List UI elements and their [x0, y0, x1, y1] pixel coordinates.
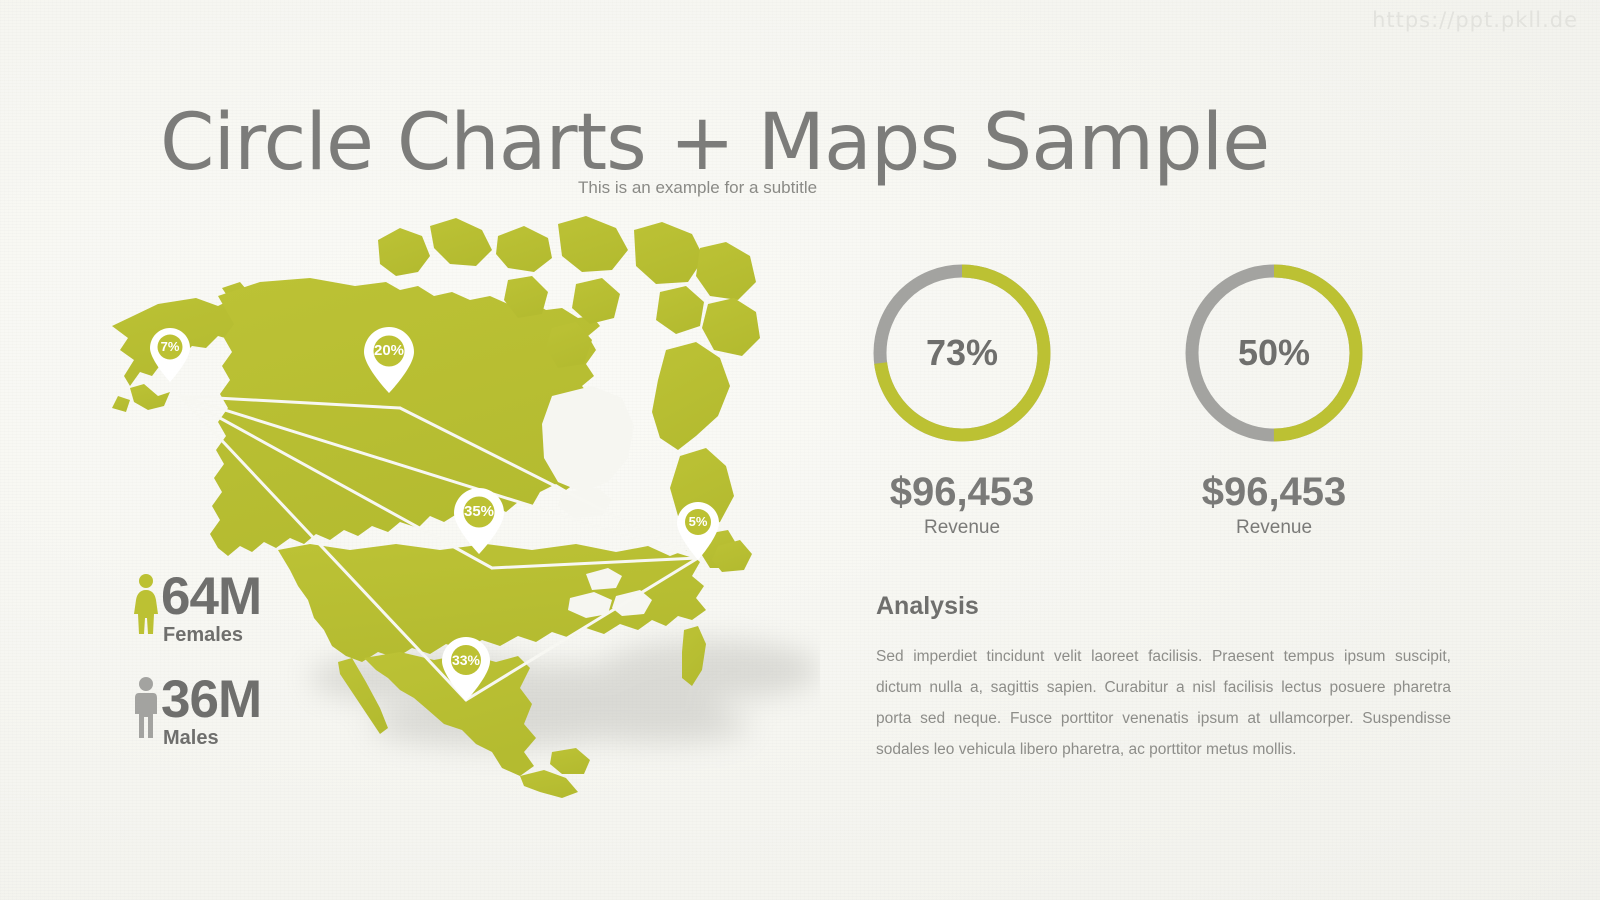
males-label: Males — [163, 727, 261, 750]
stat-females: 64M Females — [133, 573, 261, 647]
females-label: Females — [163, 624, 261, 647]
donut-ring-2: 50% — [1179, 258, 1369, 448]
analysis-body: Sed imperdiet tincidunt velit laoreet fa… — [876, 641, 1451, 765]
donut-caption-1: Revenue — [846, 517, 1078, 539]
page-title: Circle Charts + Maps Sample — [160, 98, 1269, 188]
site-watermark: https://ppt.pkll.de — [1372, 8, 1578, 32]
donut-chart-revenue-1: 73% $96,453 Revenue — [846, 258, 1078, 539]
donut-percent-1: 73% — [867, 258, 1057, 448]
pin-canada[interactable]: 20% — [364, 327, 414, 393]
analysis-heading: Analysis — [876, 592, 1451, 621]
male-icon — [133, 676, 159, 738]
donut-caption-2: Revenue — [1158, 517, 1390, 539]
pin-alaska[interactable]: 7% — [150, 328, 190, 382]
pin-usa-east[interactable]: 5% — [677, 502, 719, 560]
pin-mexico[interactable]: 33% — [442, 637, 490, 701]
donut-amount-2: $96,453 — [1158, 470, 1390, 515]
female-icon — [133, 573, 159, 635]
donut-chart-revenue-2: 50% $96,453 Revenue — [1158, 258, 1390, 539]
females-value: 64M — [161, 573, 261, 622]
males-value: 36M — [161, 676, 261, 725]
pin-usa-west[interactable]: 35% — [454, 488, 504, 554]
donut-amount-1: $96,453 — [846, 470, 1078, 515]
page-subtitle: This is an example for a subtitle — [578, 178, 817, 198]
donut-percent-2: 50% — [1179, 258, 1369, 448]
stat-males: 36M Males — [133, 676, 261, 750]
analysis-section: Analysis Sed imperdiet tincidunt velit l… — [876, 592, 1451, 765]
donut-ring-1: 73% — [867, 258, 1057, 448]
